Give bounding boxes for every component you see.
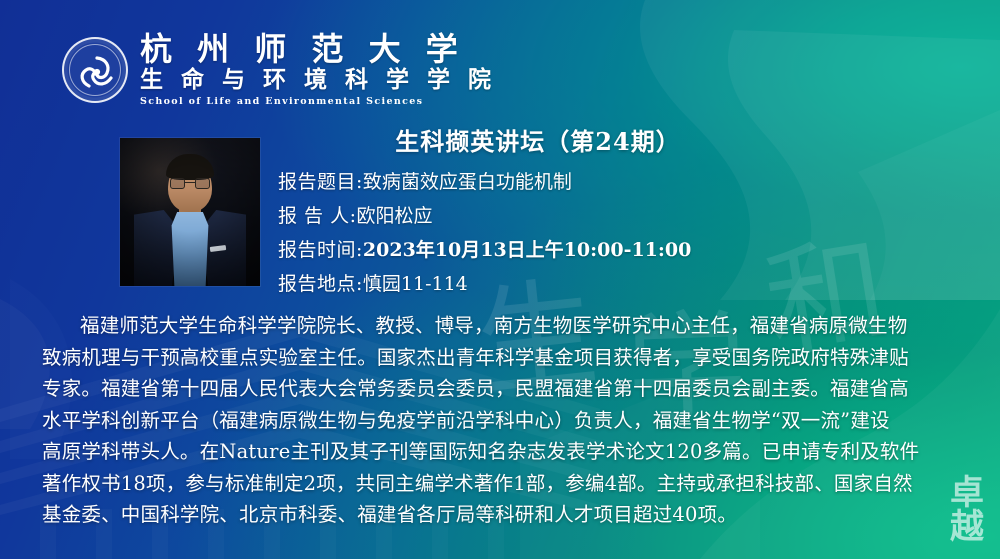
- bio-line: 高原学科带头人。在Nature主刊及其子刊等国际知名杂志发表学术论文120多篇。…: [42, 436, 960, 468]
- lecture-speaker-label: 报 告 人:: [278, 205, 356, 227]
- lecture-info: 生科撷英讲坛（第24期） 报告题目:致病菌效应蛋白功能机制 报 告 人:欧阳松应…: [278, 122, 918, 309]
- bio-line: 基金委、中国科学院、北京市科委、福建省各厅局等科研和人才项目超过40项。: [42, 499, 960, 531]
- lecture-venue-row: 报告地点:慎园11-114: [278, 275, 918, 294]
- lecture-topic-row: 报告题目:致病菌效应蛋白功能机制: [278, 173, 918, 192]
- lecture-venue-value: 慎园11-114: [363, 273, 468, 295]
- university-logo: 杭 州 师 范 大 学 生 命 与 环 境 科 学 学 院 School of …: [62, 33, 496, 107]
- lecture-speaker-value: 欧阳松应: [356, 205, 432, 227]
- university-emblem-icon: [62, 37, 128, 103]
- logo-english-name: School of Life and Environmental Science…: [140, 96, 496, 107]
- lecture-time-value: 2023年10月13日上午10:00-11:00: [363, 239, 691, 261]
- lecture-topic-value: 致病菌效应蛋白功能机制: [363, 171, 572, 193]
- logo-college-name: 生 命 与 环 境 科 学 学 院: [140, 67, 496, 93]
- lecture-poster: 生 学 和 杭 州 师 范 大 学 生 命 与 环 境 科 学 学 院 Scho…: [0, 0, 1000, 559]
- lecture-topic-label: 报告题目:: [278, 171, 363, 193]
- bio-line: 著作权书18项，参与标准制定2项，共同主编学术著作1部，参编4部。主持或承担科技…: [42, 468, 960, 500]
- logo-university-name: 杭 州 师 范 大 学: [140, 33, 496, 66]
- lecture-speaker-row: 报 告 人:欧阳松应: [278, 207, 918, 226]
- bio-line: 专家。福建省第十四届人民代表大会常务委员会委员，民盟福建省第十四届委员会副主委。…: [42, 373, 960, 405]
- lecture-venue-label: 报告地点:: [278, 273, 363, 295]
- speaker-biography: 福建师范大学生命科学学院院长、教授、博导，南方生物医学研究中心主任，福建省病原微…: [42, 310, 960, 531]
- page-title: 生科撷英讲坛（第24期）: [278, 122, 918, 157]
- lecture-time-label: 报告时间:: [278, 239, 363, 261]
- bio-line: 水平学科创新平台（福建病原微生物与免疫学前沿学科中心）负责人，福建省生物学“双一…: [42, 405, 960, 437]
- lecture-time-row: 报告时间:2023年10月13日上午10:00-11:00: [278, 241, 918, 260]
- bio-line: 致病机理与干预高校重点实验室主任。国家杰出青年科学基金项目获得者，享受国务院政府…: [42, 342, 960, 374]
- speaker-portrait: [120, 138, 260, 286]
- bio-line: 福建师范大学生命科学学院院长、教授、博导，南方生物医学研究中心主任，福建省病原微…: [42, 310, 960, 342]
